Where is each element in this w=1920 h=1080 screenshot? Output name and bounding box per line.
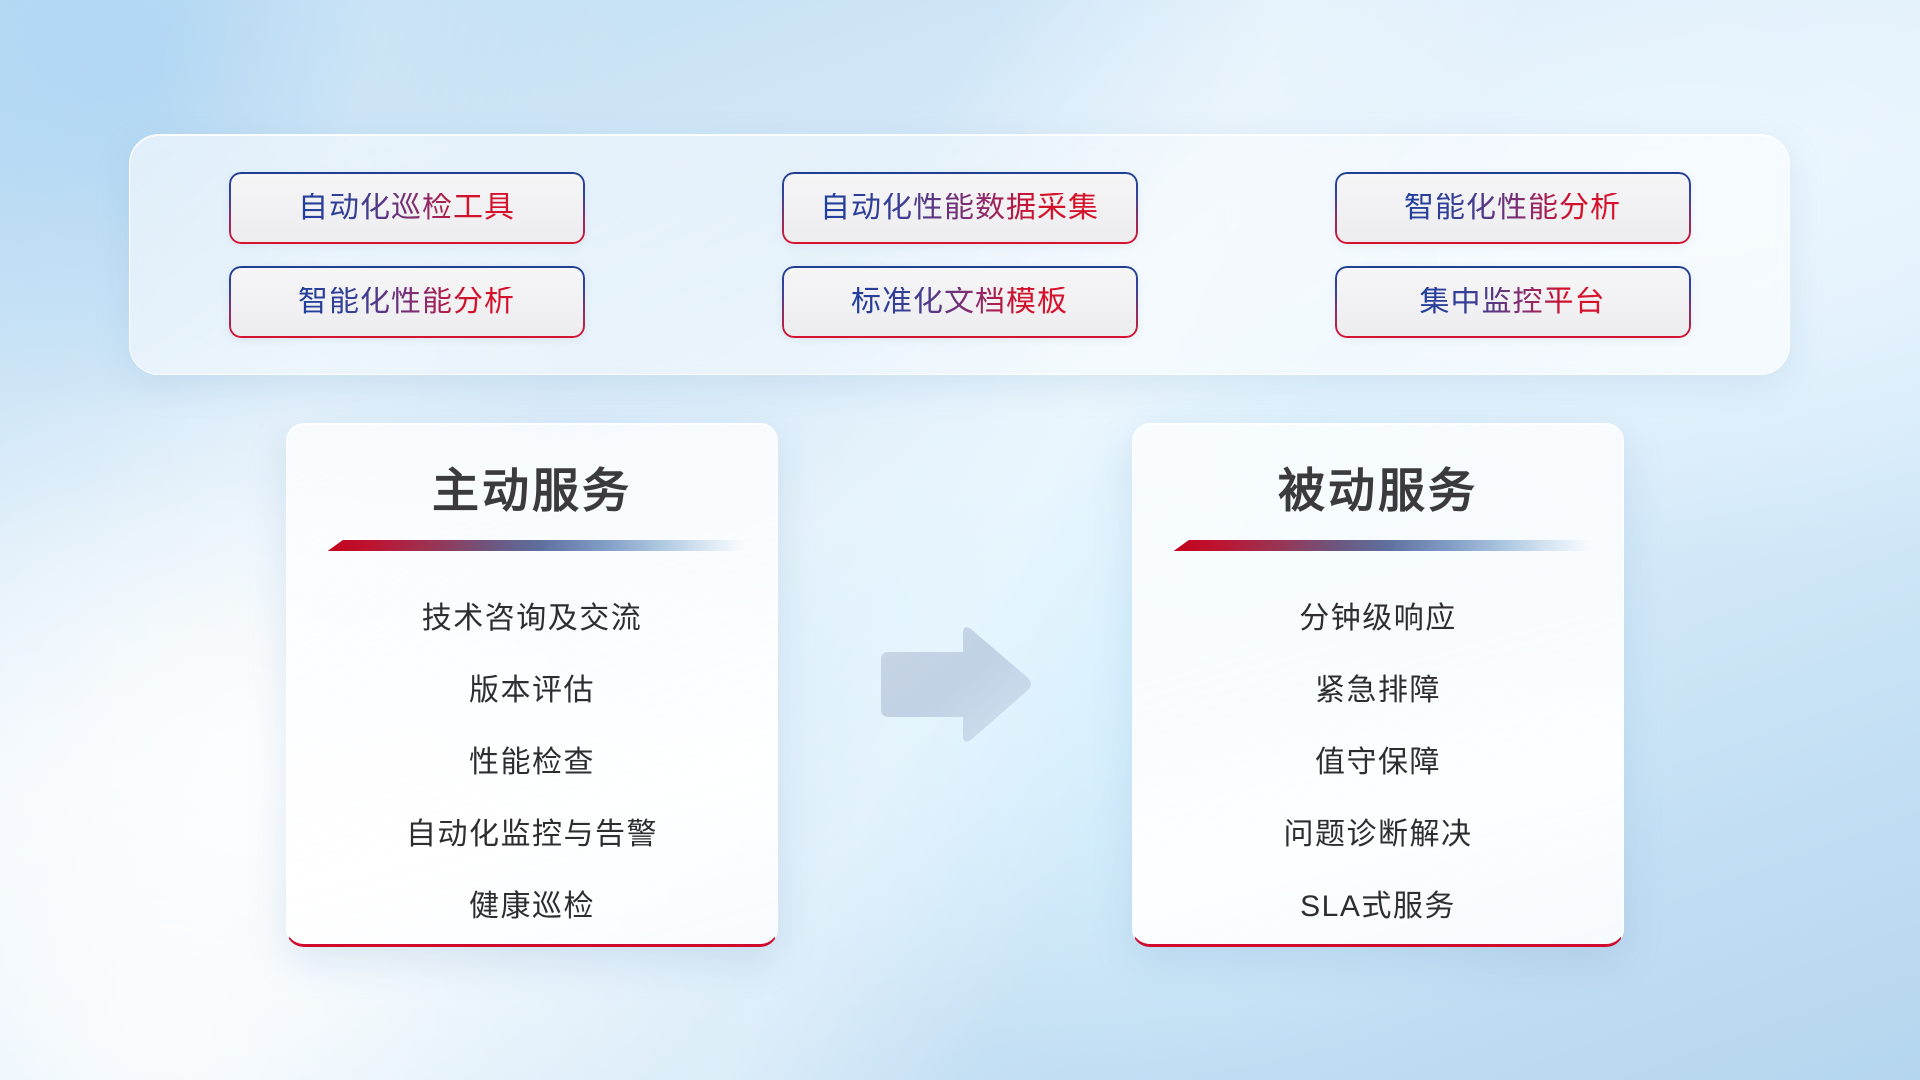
service-list-item: 紧急排障 [1315,655,1441,727]
capability-pill[interactable]: 智能化性能分析 [1335,172,1691,244]
card-divider [1166,540,1590,551]
card-divider-bar [1166,540,1590,551]
capability-pill[interactable]: 智能化性能分析 [229,266,585,338]
card-divider-bar [320,540,744,551]
service-list-item: 问题诊断解决 [1284,799,1473,871]
capability-pill-label: 自动化巡检工具 [298,193,515,223]
capability-pill-label: 标准化文档模板 [851,287,1068,317]
capability-pill[interactable]: 标准化文档模板 [782,266,1138,338]
capabilities-panel: 自动化巡检工具 自动化性能数据采集 智能化性能分析 智能化性能分析 标准化文档模… [129,134,1790,375]
service-list-item: 自动化监控与告警 [406,799,658,871]
service-item-list: 技术咨询及交流 版本评估 性能检查 自动化监控与告警 健康巡检 [287,583,777,943]
capability-pill[interactable]: 自动化巡检工具 [229,172,585,244]
capability-pill[interactable]: 自动化性能数据采集 [782,172,1138,244]
service-list-item: 健康巡检 [469,871,595,943]
capability-pill-label: 集中监控平台 [1420,287,1606,317]
slide-canvas: 自动化巡检工具 自动化性能数据采集 智能化性能分析 智能化性能分析 标准化文档模… [0,0,1920,1080]
service-list-item: 版本评估 [469,655,595,727]
service-list-item: SLA式服务 [1300,871,1456,943]
service-card-proactive[interactable]: 主动服务 技术咨询及交流 版本评估 性能检查 自动化监控与告警 健康巡检 [286,423,778,947]
service-list-item: 性能检查 [469,727,595,799]
arrow-right-icon [871,620,1035,750]
capability-pill-label: 智能化性能分析 [1404,193,1621,223]
service-card-reactive[interactable]: 被动服务 分钟级响应 紧急排障 值守保障 问题诊断解决 SLA式服务 [1132,423,1624,947]
service-card-title: 主动服务 [287,464,777,518]
service-list-item: 技术咨询及交流 [422,583,643,655]
capabilities-row-1: 自动化巡检工具 自动化性能数据采集 智能化性能分析 [130,172,1789,244]
capabilities-row-2: 智能化性能分析 标准化文档模板 集中监控平台 [130,266,1789,338]
capability-pill-label: 自动化性能数据采集 [820,193,1099,223]
card-divider [320,540,744,551]
service-item-list: 分钟级响应 紧急排障 值守保障 问题诊断解决 SLA式服务 [1133,583,1623,943]
capability-pill[interactable]: 集中监控平台 [1335,266,1691,338]
service-card-title: 被动服务 [1133,464,1623,518]
service-list-item: 分钟级响应 [1299,583,1457,655]
capability-pill-label: 智能化性能分析 [298,287,515,317]
service-list-item: 值守保障 [1315,727,1441,799]
